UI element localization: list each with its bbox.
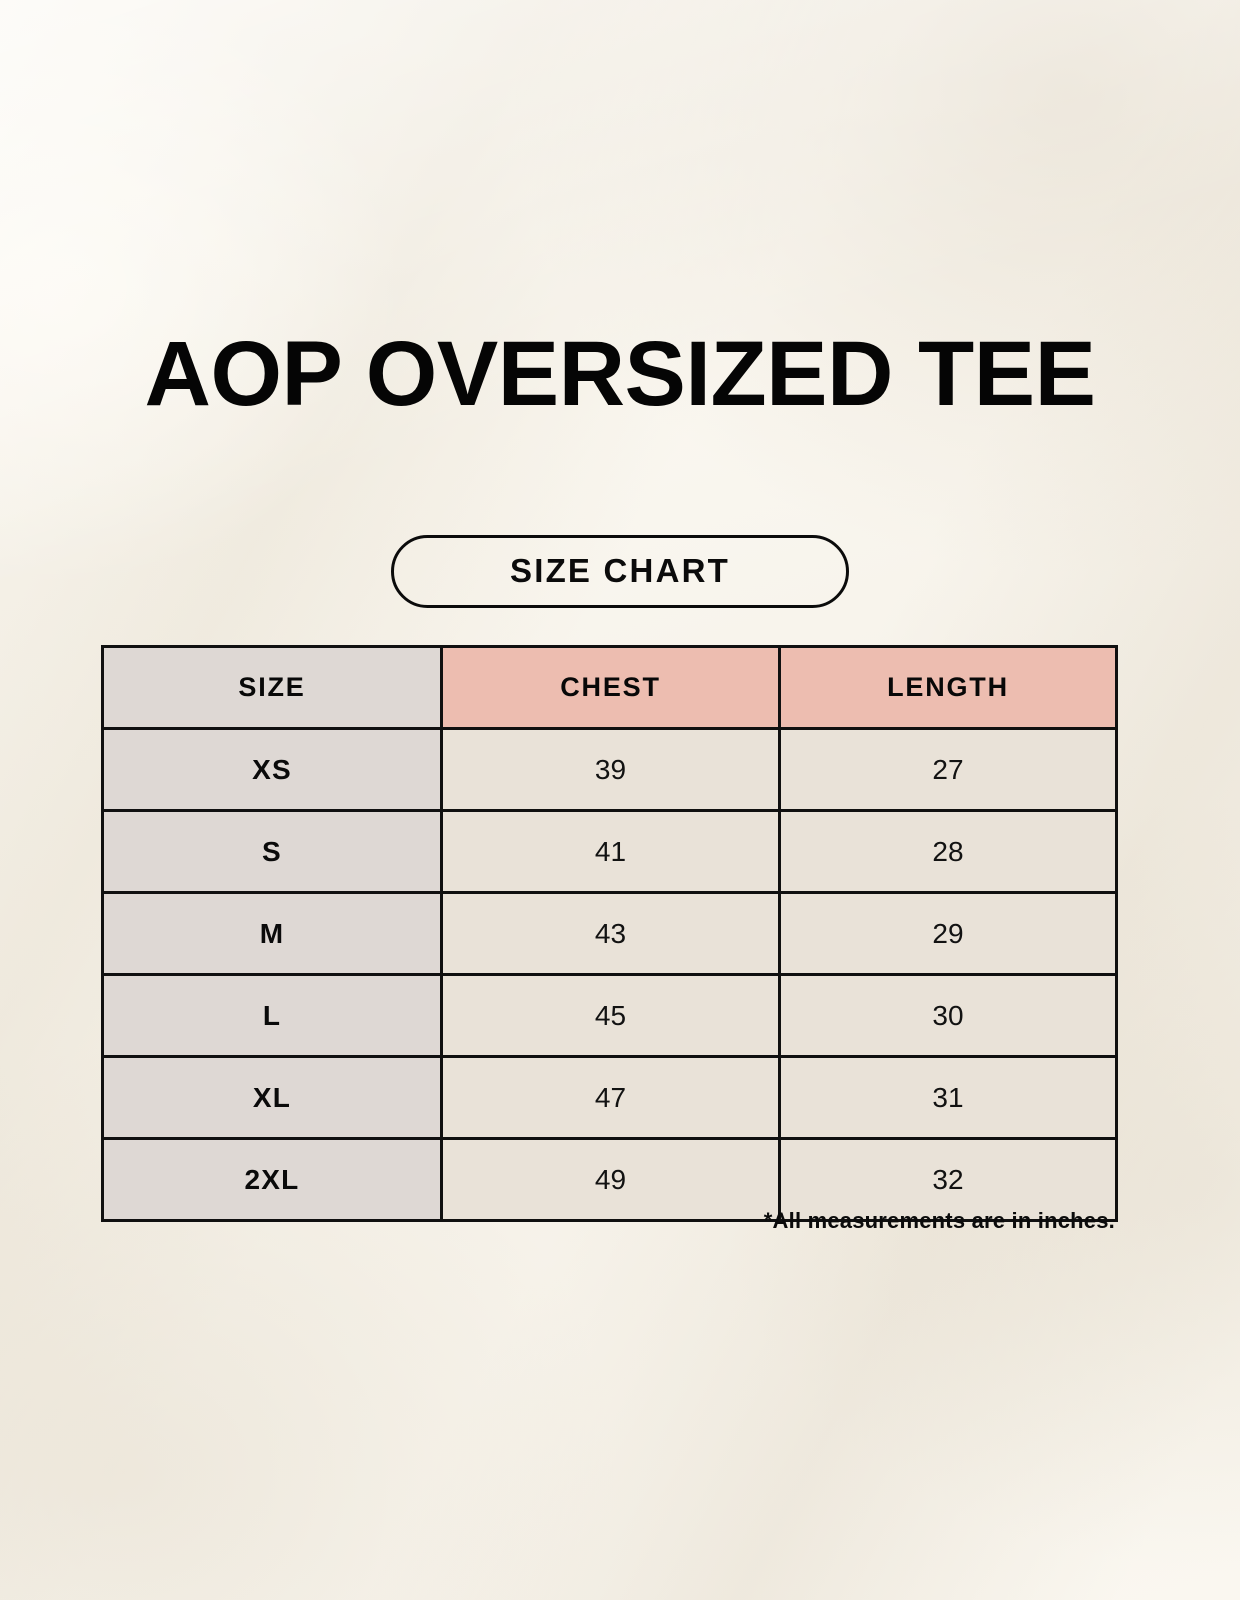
cell-chest: 43: [442, 893, 780, 975]
size-chart-page: AOP OVERSIZED TEE SIZE CHART SIZE CHEST …: [0, 0, 1240, 1600]
cell-size: M: [103, 893, 442, 975]
content-container: AOP OVERSIZED TEE SIZE CHART SIZE CHEST …: [0, 0, 1240, 1600]
measurement-note: *All measurements are in inches.: [101, 1208, 1115, 1234]
badge-container: SIZE CHART: [0, 535, 1240, 608]
cell-chest: 45: [442, 975, 780, 1057]
table-row: L 45 30: [103, 975, 1117, 1057]
page-title: AOP OVERSIZED TEE: [120, 330, 1120, 418]
table-row: M 43 29: [103, 893, 1117, 975]
column-header-size: SIZE: [103, 647, 442, 729]
cell-size: S: [103, 811, 442, 893]
table-row: XL 47 31: [103, 1057, 1117, 1139]
cell-chest: 41: [442, 811, 780, 893]
column-header-length: LENGTH: [780, 647, 1117, 729]
cell-size: XL: [103, 1057, 442, 1139]
size-chart-table-wrapper: SIZE CHEST LENGTH XS 39 27 S 41 28: [101, 645, 1115, 1222]
cell-size: L: [103, 975, 442, 1057]
size-chart-badge: SIZE CHART: [391, 535, 849, 608]
table-row: S 41 28: [103, 811, 1117, 893]
cell-length: 27: [780, 729, 1117, 811]
table-row: XS 39 27: [103, 729, 1117, 811]
cell-length: 29: [780, 893, 1117, 975]
cell-length: 28: [780, 811, 1117, 893]
cell-length: 30: [780, 975, 1117, 1057]
cell-chest: 47: [442, 1057, 780, 1139]
cell-chest: 39: [442, 729, 780, 811]
column-header-chest: CHEST: [442, 647, 780, 729]
cell-size: XS: [103, 729, 442, 811]
cell-length: 31: [780, 1057, 1117, 1139]
size-chart-table: SIZE CHEST LENGTH XS 39 27 S 41 28: [101, 645, 1118, 1222]
table-header-row: SIZE CHEST LENGTH: [103, 647, 1117, 729]
